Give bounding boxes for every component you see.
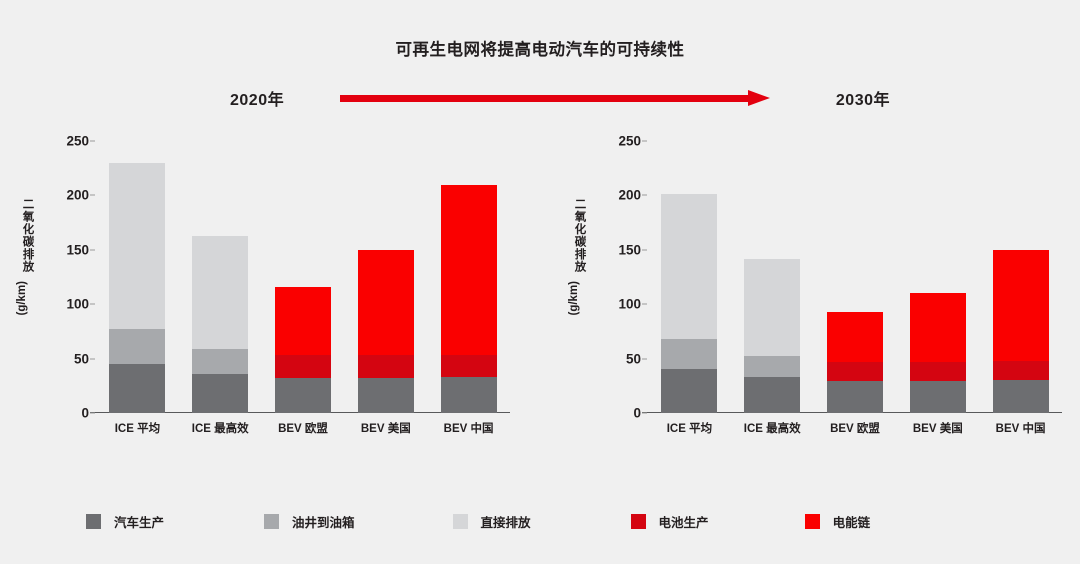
x-tick-label-right-0: ICE 平均 [648, 420, 731, 436]
bar-segment-油井到油箱[interactable] [109, 329, 165, 364]
y-tick-label-right: 50 [595, 351, 641, 366]
timeline-end-label: 2030年 [836, 86, 890, 110]
bar-right-2[interactable] [827, 141, 883, 413]
plot-area-left: 050100150200250 [96, 141, 510, 413]
bar-left-0[interactable] [109, 141, 165, 413]
bar-segment-汽车生产[interactable] [910, 381, 966, 413]
y-axis-title-units-left: (g/km) [16, 281, 29, 316]
bar-segment-汽车生产[interactable] [358, 378, 414, 413]
legend-swatch-icon-well_to_tank [264, 514, 279, 529]
x-tick-label-right-3: BEV 美国 [896, 420, 979, 436]
y-tick-label-left: 0 [43, 406, 89, 421]
y-tick-mark-left [90, 304, 95, 305]
chart-legend: 汽车生产油井到油箱直接排放电池生产电能链 [0, 512, 1080, 531]
bar-segment-直接排放[interactable] [109, 163, 165, 329]
bar-segment-汽车生产[interactable] [744, 377, 800, 413]
y-axis-title-units-right: (g/km) [568, 281, 581, 316]
bar-segment-汽车生产[interactable] [192, 374, 248, 413]
bar-segment-电能链[interactable] [993, 250, 1049, 361]
legend-item-battery_production[interactable]: 电池生产 [631, 512, 709, 531]
bar-group-left [96, 141, 510, 413]
bar-segment-电能链[interactable] [441, 185, 497, 356]
y-axis-title-left: 二氧化碳排放 (g/km) [16, 198, 38, 315]
y-tick-mark-right [642, 413, 647, 414]
bar-segment-电池生产[interactable] [441, 355, 497, 377]
bar-segment-直接排放[interactable] [661, 194, 717, 339]
y-tick-label-right: 100 [595, 297, 641, 312]
legend-item-vehicle_production[interactable]: 汽车生产 [86, 512, 164, 531]
y-tick-label-left: 150 [43, 242, 89, 257]
legend-label: 直接排放 [481, 512, 531, 531]
y-axis-title-right: 二氧化碳排放 (g/km) [568, 198, 590, 315]
legend-swatch-icon-direct_emissions [453, 514, 468, 529]
x-tick-label-right-1: ICE 最高效 [731, 420, 814, 436]
bar-right-0[interactable] [661, 141, 717, 413]
bar-segment-电池生产[interactable] [358, 355, 414, 378]
bar-segment-直接排放[interactable] [192, 236, 248, 349]
y-tick-mark-right [642, 304, 647, 305]
y-axis-title-cjk-right: 二氧化碳排放 [573, 198, 586, 273]
legend-label: 电池生产 [659, 512, 709, 531]
y-tick-mark-right [642, 358, 647, 359]
timeline-start-label: 2020年 [230, 86, 284, 110]
legend-label: 汽车生产 [114, 512, 164, 531]
y-tick-mark-right [642, 195, 647, 196]
y-tick-mark-right [642, 141, 647, 142]
bar-segment-汽车生产[interactable] [827, 381, 883, 413]
bar-left-4[interactable] [441, 141, 497, 413]
legend-swatch-icon-electricity_chain [805, 514, 820, 529]
y-tick-label-left: 100 [43, 297, 89, 312]
bar-left-1[interactable] [192, 141, 248, 413]
y-tick-label-right: 150 [595, 242, 641, 257]
x-axis-labels-left: ICE 平均ICE 最高效BEV 欧盟BEV 美国BEV 中国 [96, 420, 510, 436]
y-tick-mark-left [90, 195, 95, 196]
bar-group-right [648, 141, 1062, 413]
x-tick-label-right-2: BEV 欧盟 [814, 420, 897, 436]
y-tick-mark-left [90, 141, 95, 142]
x-tick-label-left-2: BEV 欧盟 [262, 420, 345, 436]
y-tick-mark-right [642, 249, 647, 250]
y-axis-title-cjk-left: 二氧化碳排放 [21, 198, 34, 273]
bar-segment-电池生产[interactable] [910, 362, 966, 382]
bar-segment-电池生产[interactable] [275, 355, 331, 378]
chart-2030: 二氧化碳排放 (g/km) 050100150200250 ICE 平均ICE … [560, 128, 1076, 458]
arrow-head [748, 90, 770, 106]
bar-segment-电能链[interactable] [275, 287, 331, 356]
bar-segment-油井到油箱[interactable] [661, 339, 717, 369]
x-tick-label-left-1: ICE 最高效 [179, 420, 262, 436]
bar-segment-直接排放[interactable] [744, 259, 800, 357]
legend-label: 油井到油箱 [292, 512, 355, 531]
legend-swatch-icon-battery_production [631, 514, 646, 529]
bar-right-4[interactable] [993, 141, 1049, 413]
y-tick-mark-left [90, 358, 95, 359]
bar-segment-汽车生产[interactable] [661, 369, 717, 413]
bar-segment-电池生产[interactable] [827, 362, 883, 382]
chart-2020: 二氧化碳排放 (g/km) 050100150200250 ICE 平均ICE … [8, 128, 528, 458]
arrow-shaft [340, 95, 750, 102]
y-tick-label-left: 250 [43, 134, 89, 149]
y-tick-mark-left [90, 249, 95, 250]
legend-item-well_to_tank[interactable]: 油井到油箱 [264, 512, 355, 531]
legend-swatch-icon-vehicle_production [86, 514, 101, 529]
x-tick-label-right-4: BEV 中国 [979, 420, 1062, 436]
page-title: 可再生电网将提高电动汽车的可持续性 [0, 36, 1080, 60]
bar-segment-电能链[interactable] [910, 293, 966, 362]
x-tick-label-left-0: ICE 平均 [96, 420, 179, 436]
y-tick-label-right: 200 [595, 188, 641, 203]
x-tick-label-left-4: BEV 中国 [427, 420, 510, 436]
legend-item-electricity_chain[interactable]: 电能链 [805, 512, 871, 531]
legend-label: 电能链 [833, 512, 871, 531]
bar-segment-电池生产[interactable] [993, 361, 1049, 381]
bar-segment-油井到油箱[interactable] [744, 356, 800, 377]
bar-segment-电能链[interactable] [827, 312, 883, 362]
y-tick-label-right: 250 [595, 134, 641, 149]
bar-segment-汽车生产[interactable] [993, 380, 1049, 413]
bar-right-3[interactable] [910, 141, 966, 413]
bar-segment-汽车生产[interactable] [275, 378, 331, 413]
x-axis-labels-right: ICE 平均ICE 最高效BEV 欧盟BEV 美国BEV 中国 [648, 420, 1062, 436]
legend-item-direct_emissions[interactable]: 直接排放 [453, 512, 531, 531]
bar-segment-油井到油箱[interactable] [192, 349, 248, 374]
bar-right-1[interactable] [744, 141, 800, 413]
y-tick-label-right: 0 [595, 406, 641, 421]
y-tick-label-left: 50 [43, 351, 89, 366]
timeline-band: 2020年 2030年 [230, 84, 890, 112]
bar-segment-汽车生产[interactable] [109, 364, 165, 413]
x-tick-label-left-3: BEV 美国 [344, 420, 427, 436]
bar-segment-汽车生产[interactable] [441, 377, 497, 413]
bar-left-2[interactable] [275, 141, 331, 413]
y-tick-label-left: 200 [43, 188, 89, 203]
bar-left-3[interactable] [358, 141, 414, 413]
bar-segment-电能链[interactable] [358, 250, 414, 356]
plot-area-right: 050100150200250 [648, 141, 1062, 413]
timeline-arrow-icon [340, 90, 770, 106]
y-tick-mark-left [90, 413, 95, 414]
